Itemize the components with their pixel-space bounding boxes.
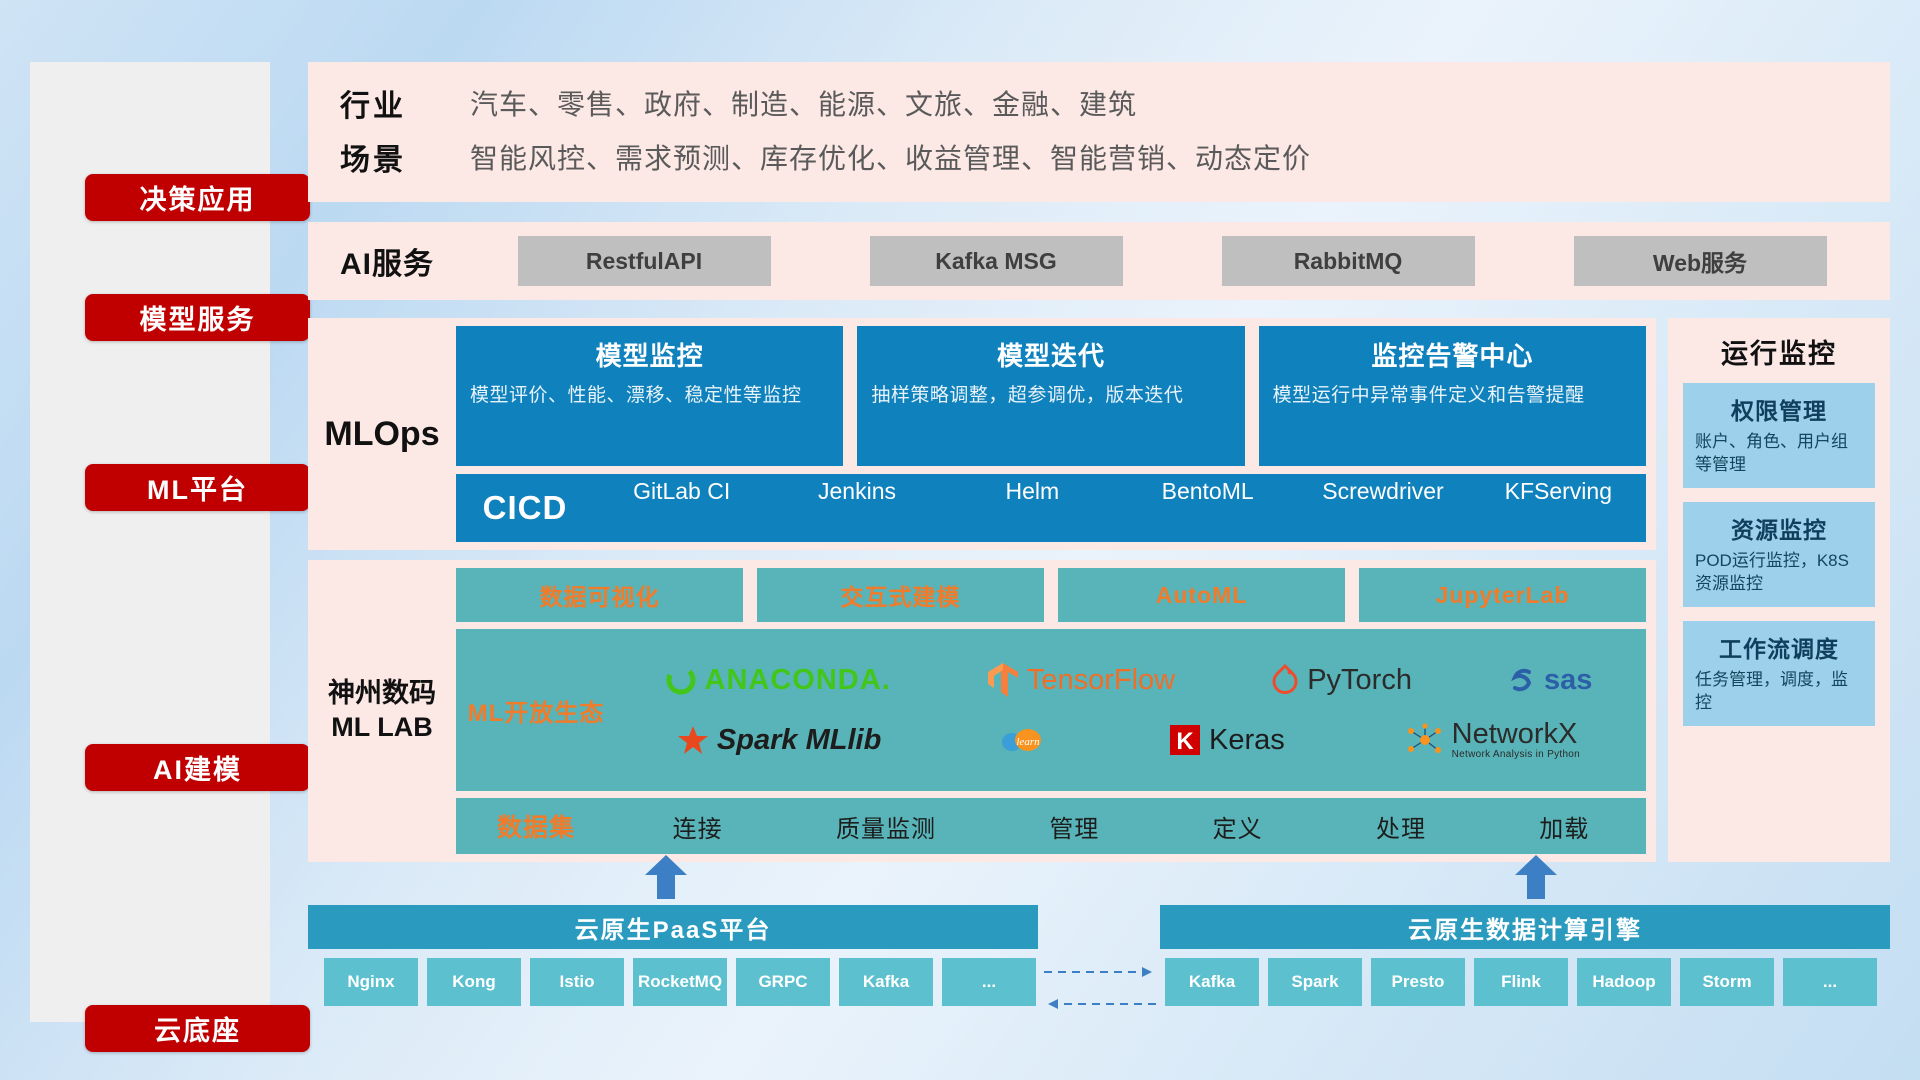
left-rail: 决策应用 模型服务 ML平台 AI建模 云底座 xyxy=(30,62,270,1022)
bidirectional-dashed-connector xyxy=(1040,960,1160,1016)
dataset-item-process[interactable]: 处理 xyxy=(1376,809,1426,844)
pytorch-logo: PyTorch xyxy=(1270,663,1412,697)
card-title: 模型监控 xyxy=(470,336,829,373)
dataset-item-quality[interactable]: 质量监测 xyxy=(836,809,936,844)
ml-ecosystem-title: ML开放生态 xyxy=(456,693,616,728)
tensorflow-icon xyxy=(986,661,1020,699)
cicd-item-screwdriver[interactable]: Screwdriver xyxy=(1295,474,1470,542)
card-desc: 模型评价、性能、漂移、稳定性等监控 xyxy=(470,383,829,409)
mlops-card-list: 模型监控 模型评价、性能、漂移、稳定性等监控 模型迭代 抽样策略调整，超参调优，… xyxy=(456,326,1646,466)
keras-icon: K xyxy=(1168,723,1202,757)
sas-label: sas xyxy=(1544,664,1592,697)
card-desc: 账户、角色、用户组等管理 xyxy=(1695,431,1863,477)
lab-tool-interactive-modeling[interactable]: 交互式建模 xyxy=(757,568,1044,622)
lab-tool-automl[interactable]: AutoML xyxy=(1058,568,1345,622)
networkx-label: NetworkX xyxy=(1452,720,1580,749)
rail-item-cloud-base[interactable]: 云底座 xyxy=(85,1005,310,1052)
dataset-item-define[interactable]: 定义 xyxy=(1213,809,1263,844)
paas-platform-bar: 云原生PaaS平台 xyxy=(308,905,1038,949)
mlops-content: 模型监控 模型评价、性能、漂移、稳定性等监控 模型迭代 抽样策略调整，超参调优，… xyxy=(456,318,1656,550)
dataset-item-manage[interactable]: 管理 xyxy=(1049,809,1099,844)
scikit-learn-icon: learn xyxy=(1001,724,1041,756)
cloud-chip-spark[interactable]: Spark xyxy=(1268,958,1362,1006)
rail-label: 模型服务 xyxy=(140,298,256,337)
spark-mllib-logo: Spark MLlib xyxy=(676,723,881,757)
industry-values: 汽车、零售、政府、制造、能源、文旅、金融、建筑 xyxy=(470,83,1137,123)
card-title: 监控告警中心 xyxy=(1273,336,1632,373)
cicd-item-helm[interactable]: Helm xyxy=(945,474,1120,542)
card-desc: 抽样策略调整，超参调优，版本迭代 xyxy=(871,383,1230,409)
cicd-item-kfserving[interactable]: KFServing xyxy=(1471,474,1646,542)
cicd-item-list: GitLab CI Jenkins Helm BentoML Screwdriv… xyxy=(594,474,1646,542)
sas-logo: sas xyxy=(1507,664,1592,697)
rail-label: 云底座 xyxy=(154,1009,241,1048)
cicd-row: CICD GitLab CI Jenkins Helm BentoML Scre… xyxy=(456,474,1646,542)
rail-label: ML平台 xyxy=(147,468,248,507)
tensorflow-logo: TensorFlow xyxy=(986,661,1175,699)
dataset-title: 数据集 xyxy=(456,808,616,844)
service-chip-rabbitmq[interactable]: RabbitMQ xyxy=(1222,236,1475,286)
svg-text:learn: learn xyxy=(1017,736,1041,748)
dataset-item-load[interactable]: 加载 xyxy=(1539,809,1589,844)
industry-row: 行业 汽车、零售、政府、制造、能源、文旅、金融、建筑 xyxy=(308,76,1890,130)
cloud-chip-rocketmq[interactable]: RocketMQ xyxy=(633,958,727,1006)
networkx-subtitle: Network Analysis in Python xyxy=(1452,749,1580,760)
industry-label: 行业 xyxy=(340,81,470,125)
ml-lab-tool-list: 数据可视化 交互式建模 AutoML JupyterLab xyxy=(456,568,1646,622)
anaconda-label: ANACONDA. xyxy=(705,664,891,697)
runtime-card-workflow[interactable]: 工作流调度 任务管理，调度，监控 xyxy=(1683,621,1875,726)
scikit-learn-logo: learn scikit learn xyxy=(1001,724,1048,756)
ai-service-chip-list: RestfulAPI Kafka MSG RabbitMQ Web服务 xyxy=(468,236,1890,286)
ml-lab-content: 数据可视化 交互式建模 AutoML JupyterLab ML开放生态 ANA… xyxy=(456,560,1656,862)
cloud-chip-grpc[interactable]: GRPC xyxy=(736,958,830,1006)
service-chip-kafka-msg[interactable]: Kafka MSG xyxy=(870,236,1123,286)
card-desc: 任务管理，调度，监控 xyxy=(1695,669,1863,715)
runtime-card-permission[interactable]: 权限管理 账户、角色、用户组等管理 xyxy=(1683,383,1875,488)
mlops-label: MLOps xyxy=(308,318,456,550)
runtime-card-resource[interactable]: 资源监控 POD运行监控，K8S资源监控 xyxy=(1683,502,1875,607)
service-chip-restfulapi[interactable]: RestfulAPI xyxy=(518,236,771,286)
scenario-row: 场景 智能风控、需求预测、库存优化、收益管理、智能营销、动态定价 xyxy=(308,130,1890,184)
networkx-logo: NetworkX Network Analysis in Python xyxy=(1405,720,1580,760)
arrow-up-data-engine-icon xyxy=(1515,855,1557,899)
data-engine-bar: 云原生数据计算引擎 xyxy=(1160,905,1890,949)
runtime-monitoring-column: 运行监控 权限管理 账户、角色、用户组等管理 资源监控 POD运行监控，K8S资… xyxy=(1668,318,1890,862)
ml-lab-label-line2: ML LAB xyxy=(328,711,436,745)
dataset-item-list: 连接 质量监测 管理 定义 处理 加载 xyxy=(616,809,1646,844)
mlops-card-model-monitoring[interactable]: 模型监控 模型评价、性能、漂移、稳定性等监控 xyxy=(456,326,843,466)
cloud-chip-flink[interactable]: Flink xyxy=(1474,958,1568,1006)
cloud-chip-more-2[interactable]: ... xyxy=(1783,958,1877,1006)
pytorch-icon xyxy=(1270,663,1300,697)
scenario-values: 智能风控、需求预测、库存优化、收益管理、智能营销、动态定价 xyxy=(470,137,1311,177)
ecosystem-logo-row-1: ANACONDA. TensorFlow xyxy=(616,652,1640,708)
cloud-chip-more[interactable]: ... xyxy=(942,958,1036,1006)
anaconda-logo: ANACONDA. xyxy=(664,663,891,697)
cicd-item-bentoml[interactable]: BentoML xyxy=(1120,474,1295,542)
paas-chip-list: Nginx Kong Istio RocketMQ GRPC Kafka ... xyxy=(324,958,1036,1006)
sas-icon xyxy=(1507,665,1537,695)
ml-ecosystem-logos: ANACONDA. TensorFlow xyxy=(616,652,1646,768)
cicd-item-gitlab-ci[interactable]: GitLab CI xyxy=(594,474,769,542)
dataset-item-connect[interactable]: 连接 xyxy=(673,809,723,844)
cloud-chip-hadoop[interactable]: Hadoop xyxy=(1577,958,1671,1006)
card-title: 工作流调度 xyxy=(1695,630,1863,664)
cloud-chip-presto[interactable]: Presto xyxy=(1371,958,1465,1006)
rail-label: 决策应用 xyxy=(140,178,256,217)
lab-tool-jupyterlab[interactable]: JupyterLab xyxy=(1359,568,1646,622)
ai-service-label: AI服务 xyxy=(340,239,468,283)
cloud-chip-kafka[interactable]: Kafka xyxy=(839,958,933,1006)
rail-item-ai-modeling[interactable]: AI建模 xyxy=(85,744,310,791)
tensorflow-label: TensorFlow xyxy=(1027,664,1175,697)
data-engine-chip-list: Kafka Spark Presto Flink Hadoop Storm ..… xyxy=(1165,958,1877,1006)
spark-icon xyxy=(676,723,710,757)
card-title: 权限管理 xyxy=(1695,392,1863,426)
rail-label: AI建模 xyxy=(153,748,242,787)
keras-label: Keras xyxy=(1209,724,1285,757)
card-desc: 模型运行中异常事件定义和告警提醒 xyxy=(1273,383,1632,409)
card-title: 资源监控 xyxy=(1695,511,1863,545)
cloud-chip-kong[interactable]: Kong xyxy=(427,958,521,1006)
svg-text:K: K xyxy=(1176,728,1194,755)
mlops-band: MLOps 模型监控 模型评价、性能、漂移、稳定性等监控 模型迭代 抽样策略调整… xyxy=(308,318,1656,550)
lab-tool-data-visualization[interactable]: 数据可视化 xyxy=(456,568,743,622)
cicd-title: CICD xyxy=(456,489,594,527)
runtime-column-title: 运行监控 xyxy=(1668,318,1890,383)
cloud-chip-storm[interactable]: Storm xyxy=(1680,958,1774,1006)
ai-service-band: AI服务 RestfulAPI Kafka MSG RabbitMQ Web服务 xyxy=(308,222,1890,300)
card-desc: POD运行监控，K8S资源监控 xyxy=(1695,550,1863,596)
cicd-item-jenkins[interactable]: Jenkins xyxy=(769,474,944,542)
ml-ecosystem-row: ML开放生态 ANACONDA. xyxy=(456,629,1646,791)
mlops-card-model-iteration[interactable]: 模型迭代 抽样策略调整，超参调优，版本迭代 xyxy=(857,326,1244,466)
ml-lab-label-line1: 神州数码 xyxy=(328,677,436,711)
cloud-chip-istio[interactable]: Istio xyxy=(530,958,624,1006)
arrow-up-paas-icon xyxy=(645,855,687,899)
rail-item-model-service[interactable]: 模型服务 xyxy=(85,294,310,341)
rail-item-decision-apps[interactable]: 决策应用 xyxy=(85,174,310,221)
rail-item-ml-platform[interactable]: ML平台 xyxy=(85,464,310,511)
networkx-icon xyxy=(1405,723,1445,757)
dataset-row: 数据集 连接 质量监测 管理 定义 处理 加载 xyxy=(456,798,1646,854)
decision-apps-band: 行业 汽车、零售、政府、制造、能源、文旅、金融、建筑 场景 智能风控、需求预测、… xyxy=(308,62,1890,202)
keras-logo: K Keras xyxy=(1168,723,1285,757)
ml-lab-label: 神州数码 ML LAB xyxy=(308,560,456,862)
diagram-canvas: 决策应用 模型服务 ML平台 AI建模 云底座 行业 汽车、零售、政府、制造、能… xyxy=(0,0,1920,1080)
spark-mllib-label: Spark MLlib xyxy=(717,724,881,757)
cloud-chip-nginx[interactable]: Nginx xyxy=(324,958,418,1006)
anaconda-icon xyxy=(664,663,698,697)
service-chip-web-service[interactable]: Web服务 xyxy=(1574,236,1827,286)
card-title: 模型迭代 xyxy=(871,336,1230,373)
pytorch-label: PyTorch xyxy=(1307,664,1412,697)
scenario-label: 场景 xyxy=(340,135,470,179)
cloud-chip-kafka-2[interactable]: Kafka xyxy=(1165,958,1259,1006)
ml-lab-band: 神州数码 ML LAB 数据可视化 交互式建模 AutoML JupyterLa… xyxy=(308,560,1656,862)
mlops-card-alert-center[interactable]: 监控告警中心 模型运行中异常事件定义和告警提醒 xyxy=(1259,326,1646,466)
ecosystem-logo-row-2: Spark MLlib learn scikit learn xyxy=(616,712,1640,768)
